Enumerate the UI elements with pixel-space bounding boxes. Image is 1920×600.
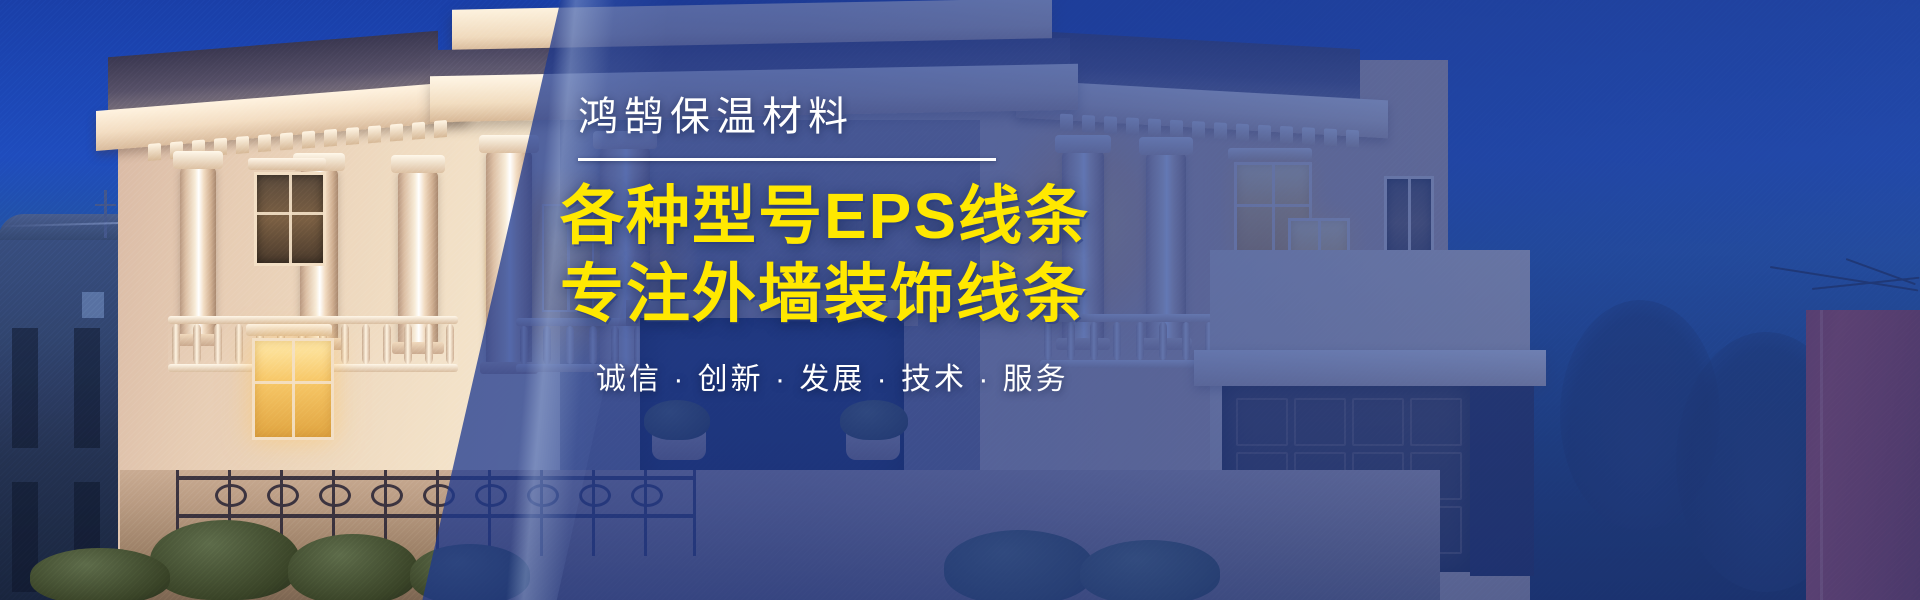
banner-text-block: 鸿鹄保温材料 各种型号EPS线条 专注外墙装饰线条 诚信 · 创新 · 发展 ·… — [560, 92, 1440, 398]
shrub-1 — [150, 520, 300, 600]
garage-side-recess — [1470, 386, 1534, 576]
window-upper-left — [254, 172, 326, 266]
shrub-5 — [1080, 540, 1220, 600]
shrub-entrance-left — [644, 400, 710, 440]
column-left-1 — [180, 166, 216, 336]
headline-line-2: 专注外墙装饰线条 — [560, 257, 1440, 333]
promo-banner: 鸿鹄保温材料 各种型号EPS线条 专注外墙装饰线条 诚信 · 创新 · 发展 ·… — [0, 0, 1920, 600]
window-hood-lower-left — [246, 324, 332, 336]
headline-line-1: 各种型号EPS线条 — [560, 179, 1440, 255]
brand-name: 鸿鹄保温材料 — [578, 92, 1440, 142]
brand-divider — [578, 158, 996, 161]
window-lower-left — [252, 338, 334, 440]
shrub-4 — [944, 530, 1094, 600]
shrub-3 — [410, 544, 530, 600]
tagline: 诚信 · 创新 · 发展 · 技术 · 服务 — [596, 354, 1440, 398]
shrub-6 — [30, 548, 170, 600]
shrub-entrance-right — [840, 400, 908, 440]
shrub-2 — [288, 534, 418, 600]
red-wall-panel — [1806, 310, 1920, 600]
window-hood-upper-left — [248, 158, 326, 170]
